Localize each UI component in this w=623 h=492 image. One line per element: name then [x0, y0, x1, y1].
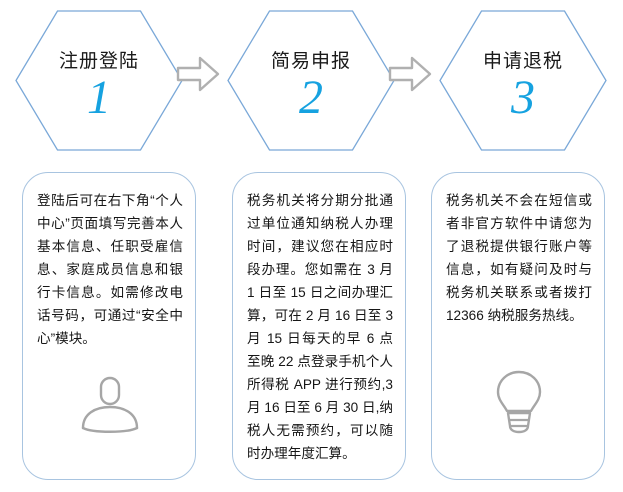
step-label-3: 申请退税 — [438, 46, 608, 73]
step-description-text-3: 税务机关不会在短信或者非官方软件中请您为了退税提供银行账户等信息，如有疑问及时与… — [446, 189, 592, 327]
step-description-text-2: 税务机关将分期分批通过单位通知纳税人办理时间，建议您在相应时段办理。您如需在 3… — [247, 189, 393, 465]
step-description-card-3: 税务机关不会在短信或者非官方软件中请您为了退税提供银行账户等信息，如有疑问及时与… — [431, 172, 605, 480]
step-label-2: 简易申报 — [226, 46, 396, 73]
arrow-step2-to-step3 — [388, 55, 432, 93]
step-description-card-2: 税务机关将分期分批通过单位通知纳税人办理时间，建议您在相应时段办理。您如需在 3… — [232, 172, 406, 480]
step-hexagon-1[interactable]: 注册登陆 1 — [14, 8, 184, 153]
step-number-1: 1 — [14, 70, 184, 126]
steps-hexagon-row: 注册登陆 1 简易申报 2 申请退税 3 — [0, 0, 623, 160]
right-arrow-icon — [176, 55, 220, 93]
step-hexagon-3[interactable]: 申请退税 3 — [438, 8, 608, 153]
infographic-root: 注册登陆 1 简易申报 2 申请退税 3 — [0, 0, 623, 492]
arrow-step1-to-step2 — [176, 55, 220, 93]
step-description-text-1: 登陆后可在右下角“个人中心”页面填写完善本人基本信息、任职受雇信息、家庭成员信息… — [37, 189, 183, 350]
step-number-2: 2 — [226, 70, 396, 126]
lightbulb-icon — [492, 369, 546, 435]
right-arrow-icon — [388, 55, 432, 93]
step-hexagon-2[interactable]: 简易申报 2 — [226, 8, 396, 153]
step-description-card-1: 登陆后可在右下角“个人中心”页面填写完善本人基本信息、任职受雇信息、家庭成员信息… — [22, 172, 196, 480]
person-icon — [79, 376, 141, 434]
step-label-1: 注册登陆 — [14, 46, 184, 73]
step-number-3: 3 — [438, 70, 608, 126]
